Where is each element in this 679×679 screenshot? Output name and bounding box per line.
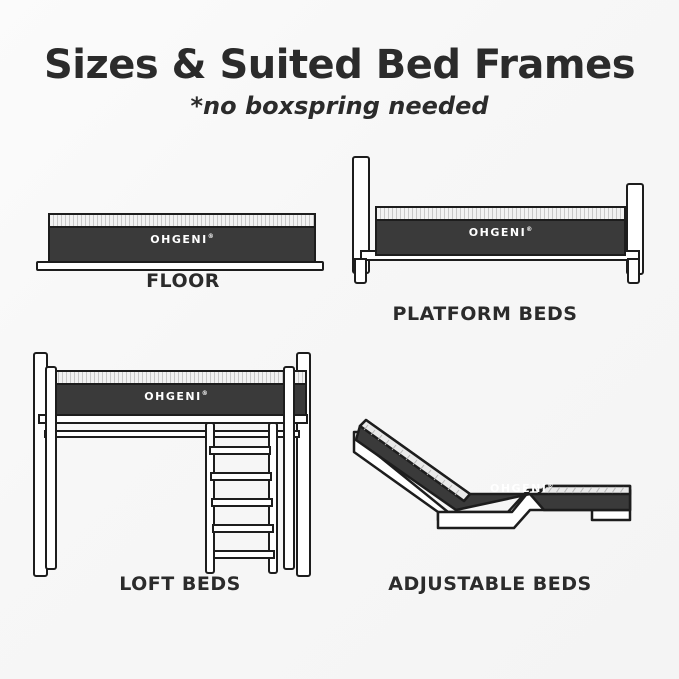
brand-trademark: ®: [547, 482, 553, 489]
mattress-top-ribs-icon: [47, 372, 305, 385]
loft-ladder-step: [210, 472, 272, 481]
brand-logo-text: OHGENI: [490, 482, 547, 495]
loft-post-left-front: [45, 366, 57, 570]
mattress-top-ribs-icon: [377, 208, 624, 221]
loft-mattress: OHGENI®: [45, 370, 307, 420]
caption-adjustable-beds: ADJUSTABLE BEDS: [340, 573, 640, 595]
mattress-top-ribs-icon: [50, 215, 314, 228]
brand-logo-text: OHGENI: [144, 390, 201, 403]
floor-mattress: OHGENI®: [48, 213, 316, 263]
infographic-page: Sizes & Suited Bed Frames *no boxspring …: [0, 0, 679, 679]
platform-mattress: OHGENI®: [375, 206, 626, 256]
brand-logo: OHGENI®: [47, 390, 305, 403]
platform-illustration-group: OHGENI®: [330, 0, 679, 330]
loft-post-right-front: [283, 366, 295, 570]
platform-leg-left: [354, 258, 367, 284]
loft-ladder-step: [213, 550, 275, 559]
loft-ladder-step: [211, 498, 273, 507]
brand-logo-text: OHGENI: [469, 226, 526, 239]
caption-floor: FLOOR: [58, 270, 308, 292]
adjustable-illustration-group: OHGENI®: [330, 370, 679, 600]
caption-platform-beds: PLATFORM BEDS: [340, 303, 630, 325]
brand-logo: OHGENI®: [377, 226, 624, 239]
caption-loft-beds: LOFT BEDS: [35, 573, 325, 595]
brand-trademark: ®: [208, 233, 214, 240]
brand-trademark: ®: [526, 226, 532, 233]
brand-logo-text: OHGENI: [150, 233, 207, 246]
brand-logo: OHGENI®: [50, 233, 314, 246]
brand-logo: OHGENI®: [490, 482, 553, 495]
platform-leg-right: [627, 258, 640, 284]
loft-ladder-step: [212, 524, 274, 533]
loft-rail-lower: [44, 430, 300, 438]
brand-trademark: ®: [202, 390, 208, 397]
loft-illustration-group: OHGENI®: [0, 330, 349, 600]
loft-ladder-step: [209, 446, 271, 455]
floor-illustration-group: OHGENI®: [0, 0, 340, 300]
